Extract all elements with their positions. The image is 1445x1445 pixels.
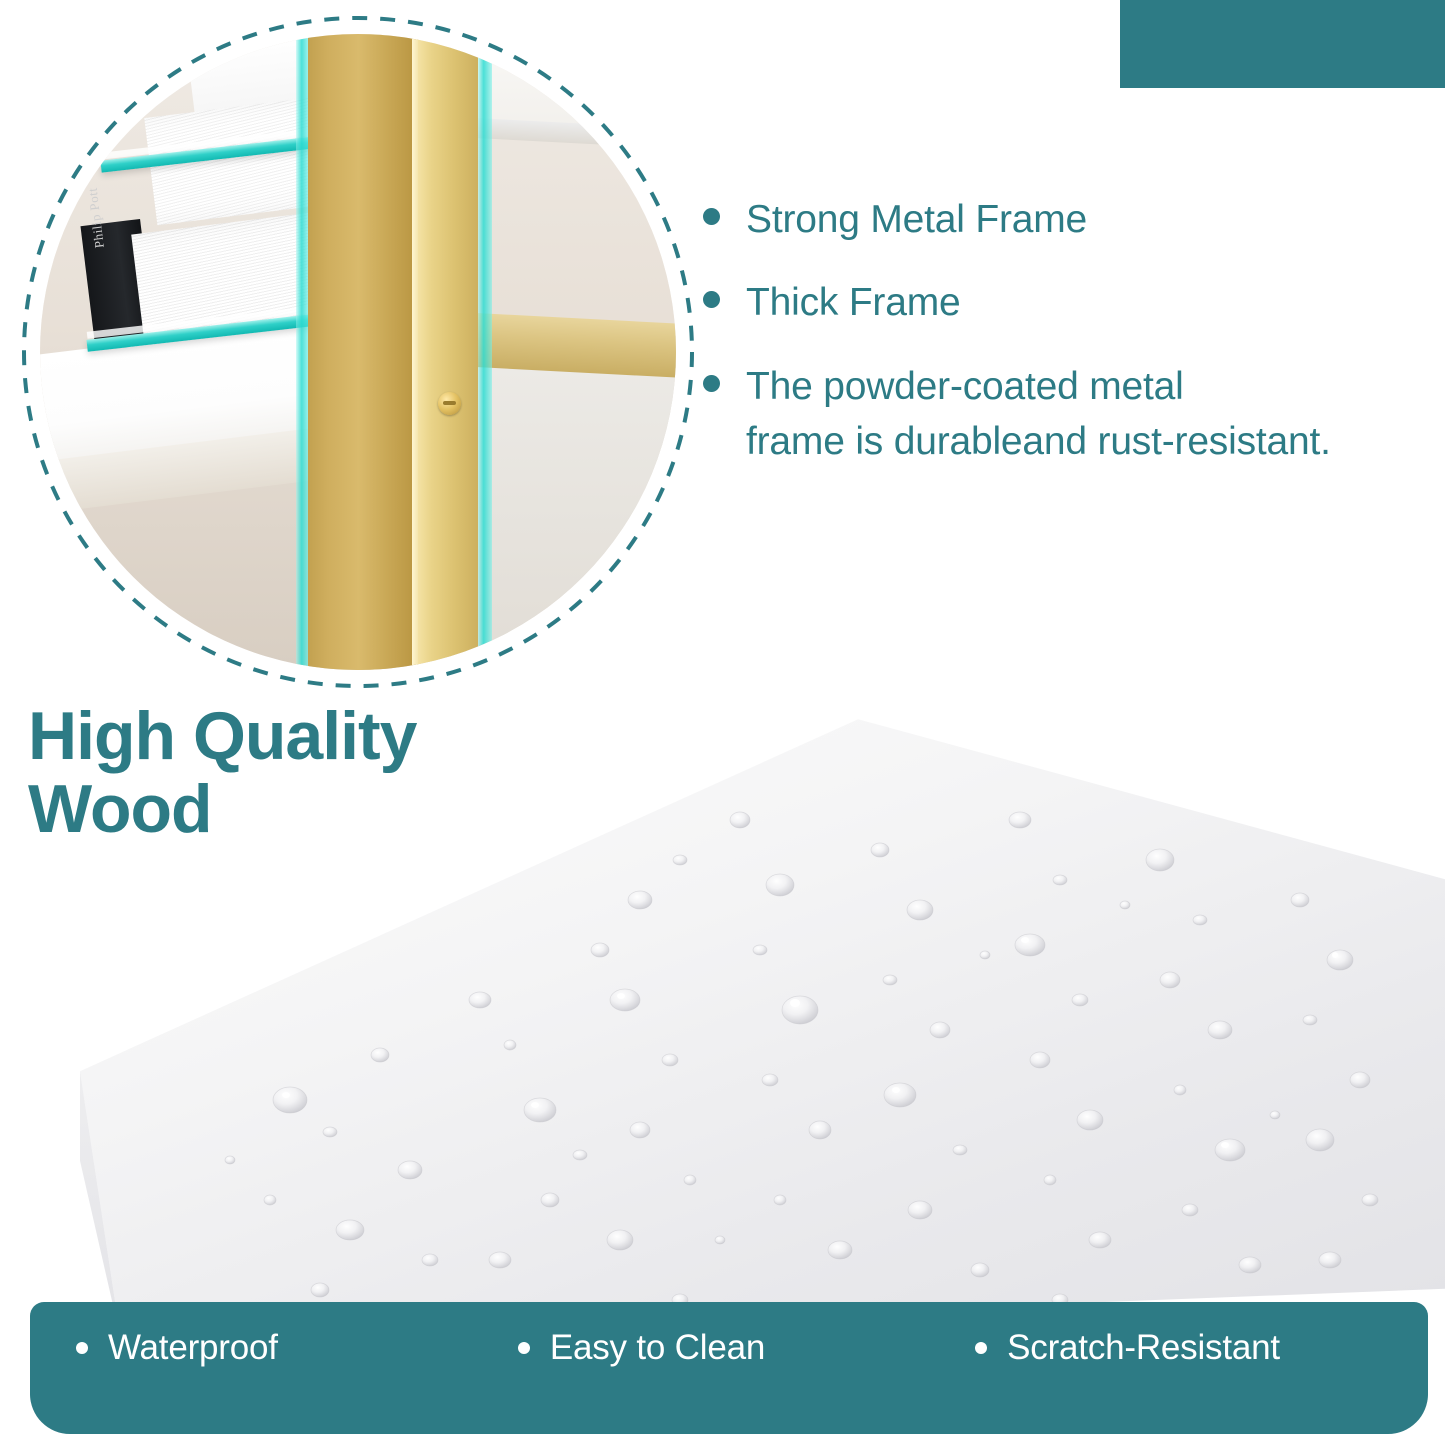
benefits-banner: Waterproof Easy to Clean Scratch-Resista…: [30, 1302, 1428, 1434]
feature-label: The powder-coated metal frame is durable…: [746, 359, 1331, 470]
bullet-dot-icon: [76, 1342, 88, 1354]
bullet-dot-icon: [975, 1342, 987, 1354]
shelf-closeup-photo: Philip Pott: [40, 34, 676, 670]
banner-item-scratch-resistant: Scratch-Resistant: [975, 1328, 1280, 1368]
banner-label: Waterproof: [108, 1328, 278, 1368]
bullet-dot-icon: [703, 208, 720, 225]
banner-label: Scratch-Resistant: [1007, 1328, 1280, 1368]
feature-item: Strong Metal Frame: [703, 192, 1433, 247]
water-droplets: [80, 700, 1445, 1340]
corner-accent-block: [1120, 0, 1445, 88]
screw-icon: [438, 392, 461, 415]
infographic-page: Philip Pott: [0, 0, 1445, 1445]
feature-item: Thick Frame: [703, 275, 1433, 330]
banner-item-easy-to-clean: Easy to Clean: [518, 1328, 765, 1368]
feature-list: Strong Metal Frame Thick Frame The powde…: [703, 192, 1433, 498]
feature-label: Strong Metal Frame: [746, 192, 1087, 247]
detail-photo-circle: Philip Pott: [18, 12, 698, 692]
feature-label: Thick Frame: [746, 275, 961, 330]
banner-item-waterproof: Waterproof: [76, 1328, 278, 1368]
banner-label: Easy to Clean: [550, 1328, 765, 1368]
bullet-dot-icon: [518, 1342, 530, 1354]
bullet-dot-icon: [703, 375, 720, 392]
waterproof-board-image: [80, 700, 1445, 1340]
feature-item: The powder-coated metal frame is durable…: [703, 359, 1433, 470]
bullet-dot-icon: [703, 291, 720, 308]
